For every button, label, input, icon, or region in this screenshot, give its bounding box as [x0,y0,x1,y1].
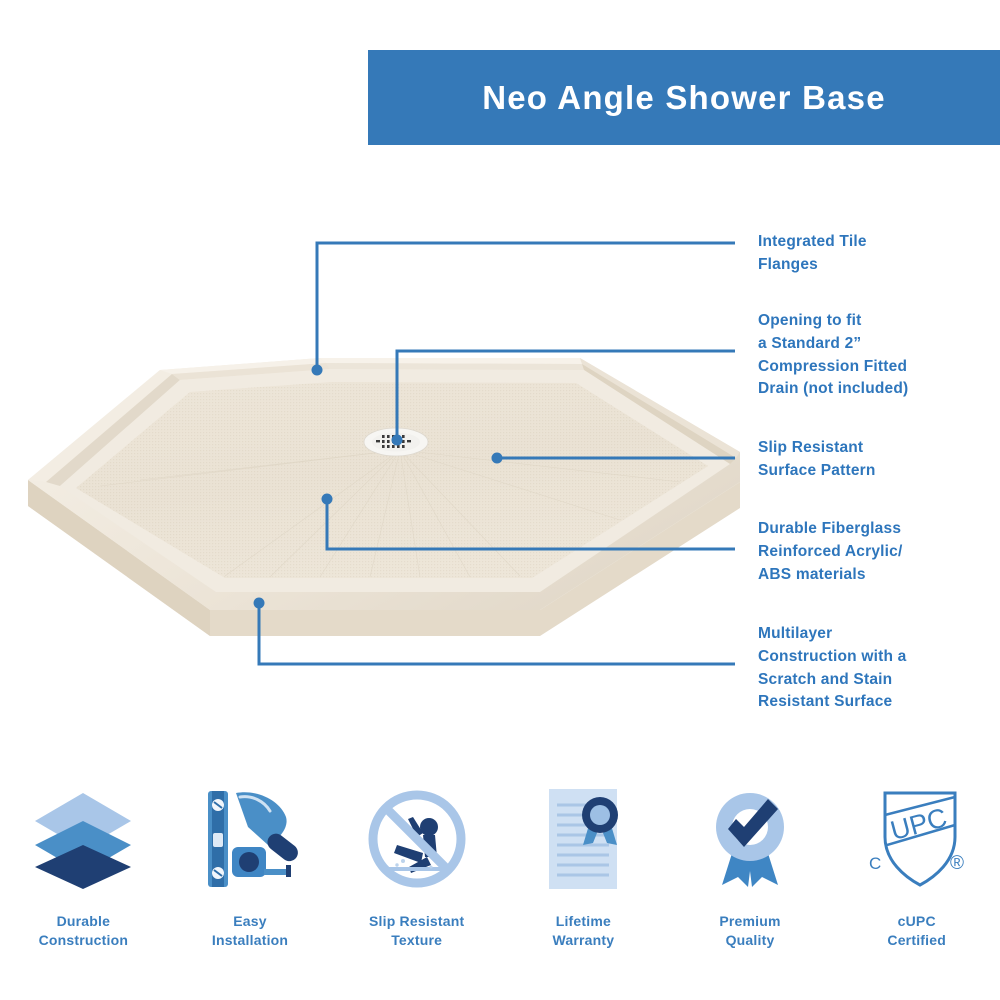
product-infographic: Neo Angle Shower Base [0,0,1000,1000]
feature-label-line: Texture [369,931,464,950]
feature-label-line: cUPC [887,912,946,931]
callout-line: ABS materials [758,564,994,587]
feature-label: Easy Installation [212,912,288,950]
callout-line: Compression Fitted [758,356,994,379]
feature-label: cUPC Certified [887,912,946,950]
callout-line: Integrated Tile [758,231,994,254]
shield-mark-left: C [869,854,881,873]
feature-label-line: Durable [39,912,129,931]
callout-line: Surface Pattern [758,460,994,483]
feature-label-line: Lifetime [552,912,614,931]
feature-lifetime-warranty: Lifetime Warranty [500,780,667,980]
callout-line: Reinforced Acrylic/ [758,541,994,564]
callout-line: Durable Fiberglass [758,518,994,541]
check-rosette-icon [691,780,809,898]
feature-durable-construction: Durable Construction [0,780,167,980]
feature-label-line: Quality [719,931,780,950]
feature-slip-resistant-texture: Slip Resistant Texture [333,780,500,980]
feature-premium-quality: Premium Quality [667,780,834,980]
callout-label-drain-opening: Opening to fit a Standard 2” Compression… [758,310,994,401]
feature-label-line: Certified [887,931,946,950]
callout-line: Construction with a [758,646,994,669]
callout-label-integrated-tile-flanges: Integrated Tile Flanges [758,231,994,277]
callout-line: Opening to fit [758,310,994,333]
callout-line: Slip Resistant [758,437,994,460]
feature-cupc-certified: UPC C ® cUPC Certified [833,780,1000,980]
feature-easy-installation: Easy Installation [167,780,334,980]
feature-label-line: Easy [212,912,288,931]
product-illustration [20,330,760,650]
upc-shield-icon: UPC C ® [858,780,976,898]
callout-line: Drain (not included) [758,378,994,401]
callout-line: Flanges [758,254,994,277]
no-slip-icon [358,780,476,898]
feature-label-line: Premium [719,912,780,931]
feature-label-line: Construction [39,931,129,950]
callout-label-durable-fiberglass-materials: Durable Fiberglass Reinforced Acrylic/ A… [758,518,994,586]
feature-label-line: Slip Resistant [369,912,464,931]
feature-label-line: Warranty [552,931,614,950]
feature-badges-row: Durable Construction [0,780,1000,980]
callout-label-multilayer-construction: Multilayer Construction with a Scratch a… [758,623,994,714]
feature-label: Premium Quality [719,912,780,950]
callout-line: a Standard 2” [758,333,994,356]
callout-line: Resistant Surface [758,691,994,714]
feature-label: Slip Resistant Texture [369,912,464,950]
certificate-icon [524,780,642,898]
callout-label-slip-resistant-surface-pattern: Slip Resistant Surface Pattern [758,437,994,483]
drain-grate [364,428,428,456]
trowel-level-icon [191,780,309,898]
callout-line: Scratch and Stain [758,669,994,692]
shield-mark-right: ® [950,853,964,874]
callout-line: Multilayer [758,623,994,646]
header-banner: Neo Angle Shower Base [368,50,1000,145]
feature-label: Durable Construction [39,912,129,950]
shield-text: UPC [887,802,950,846]
page-title: Neo Angle Shower Base [482,79,886,117]
layers-icon [24,780,142,898]
feature-label: Lifetime Warranty [552,912,614,950]
feature-label-line: Installation [212,931,288,950]
